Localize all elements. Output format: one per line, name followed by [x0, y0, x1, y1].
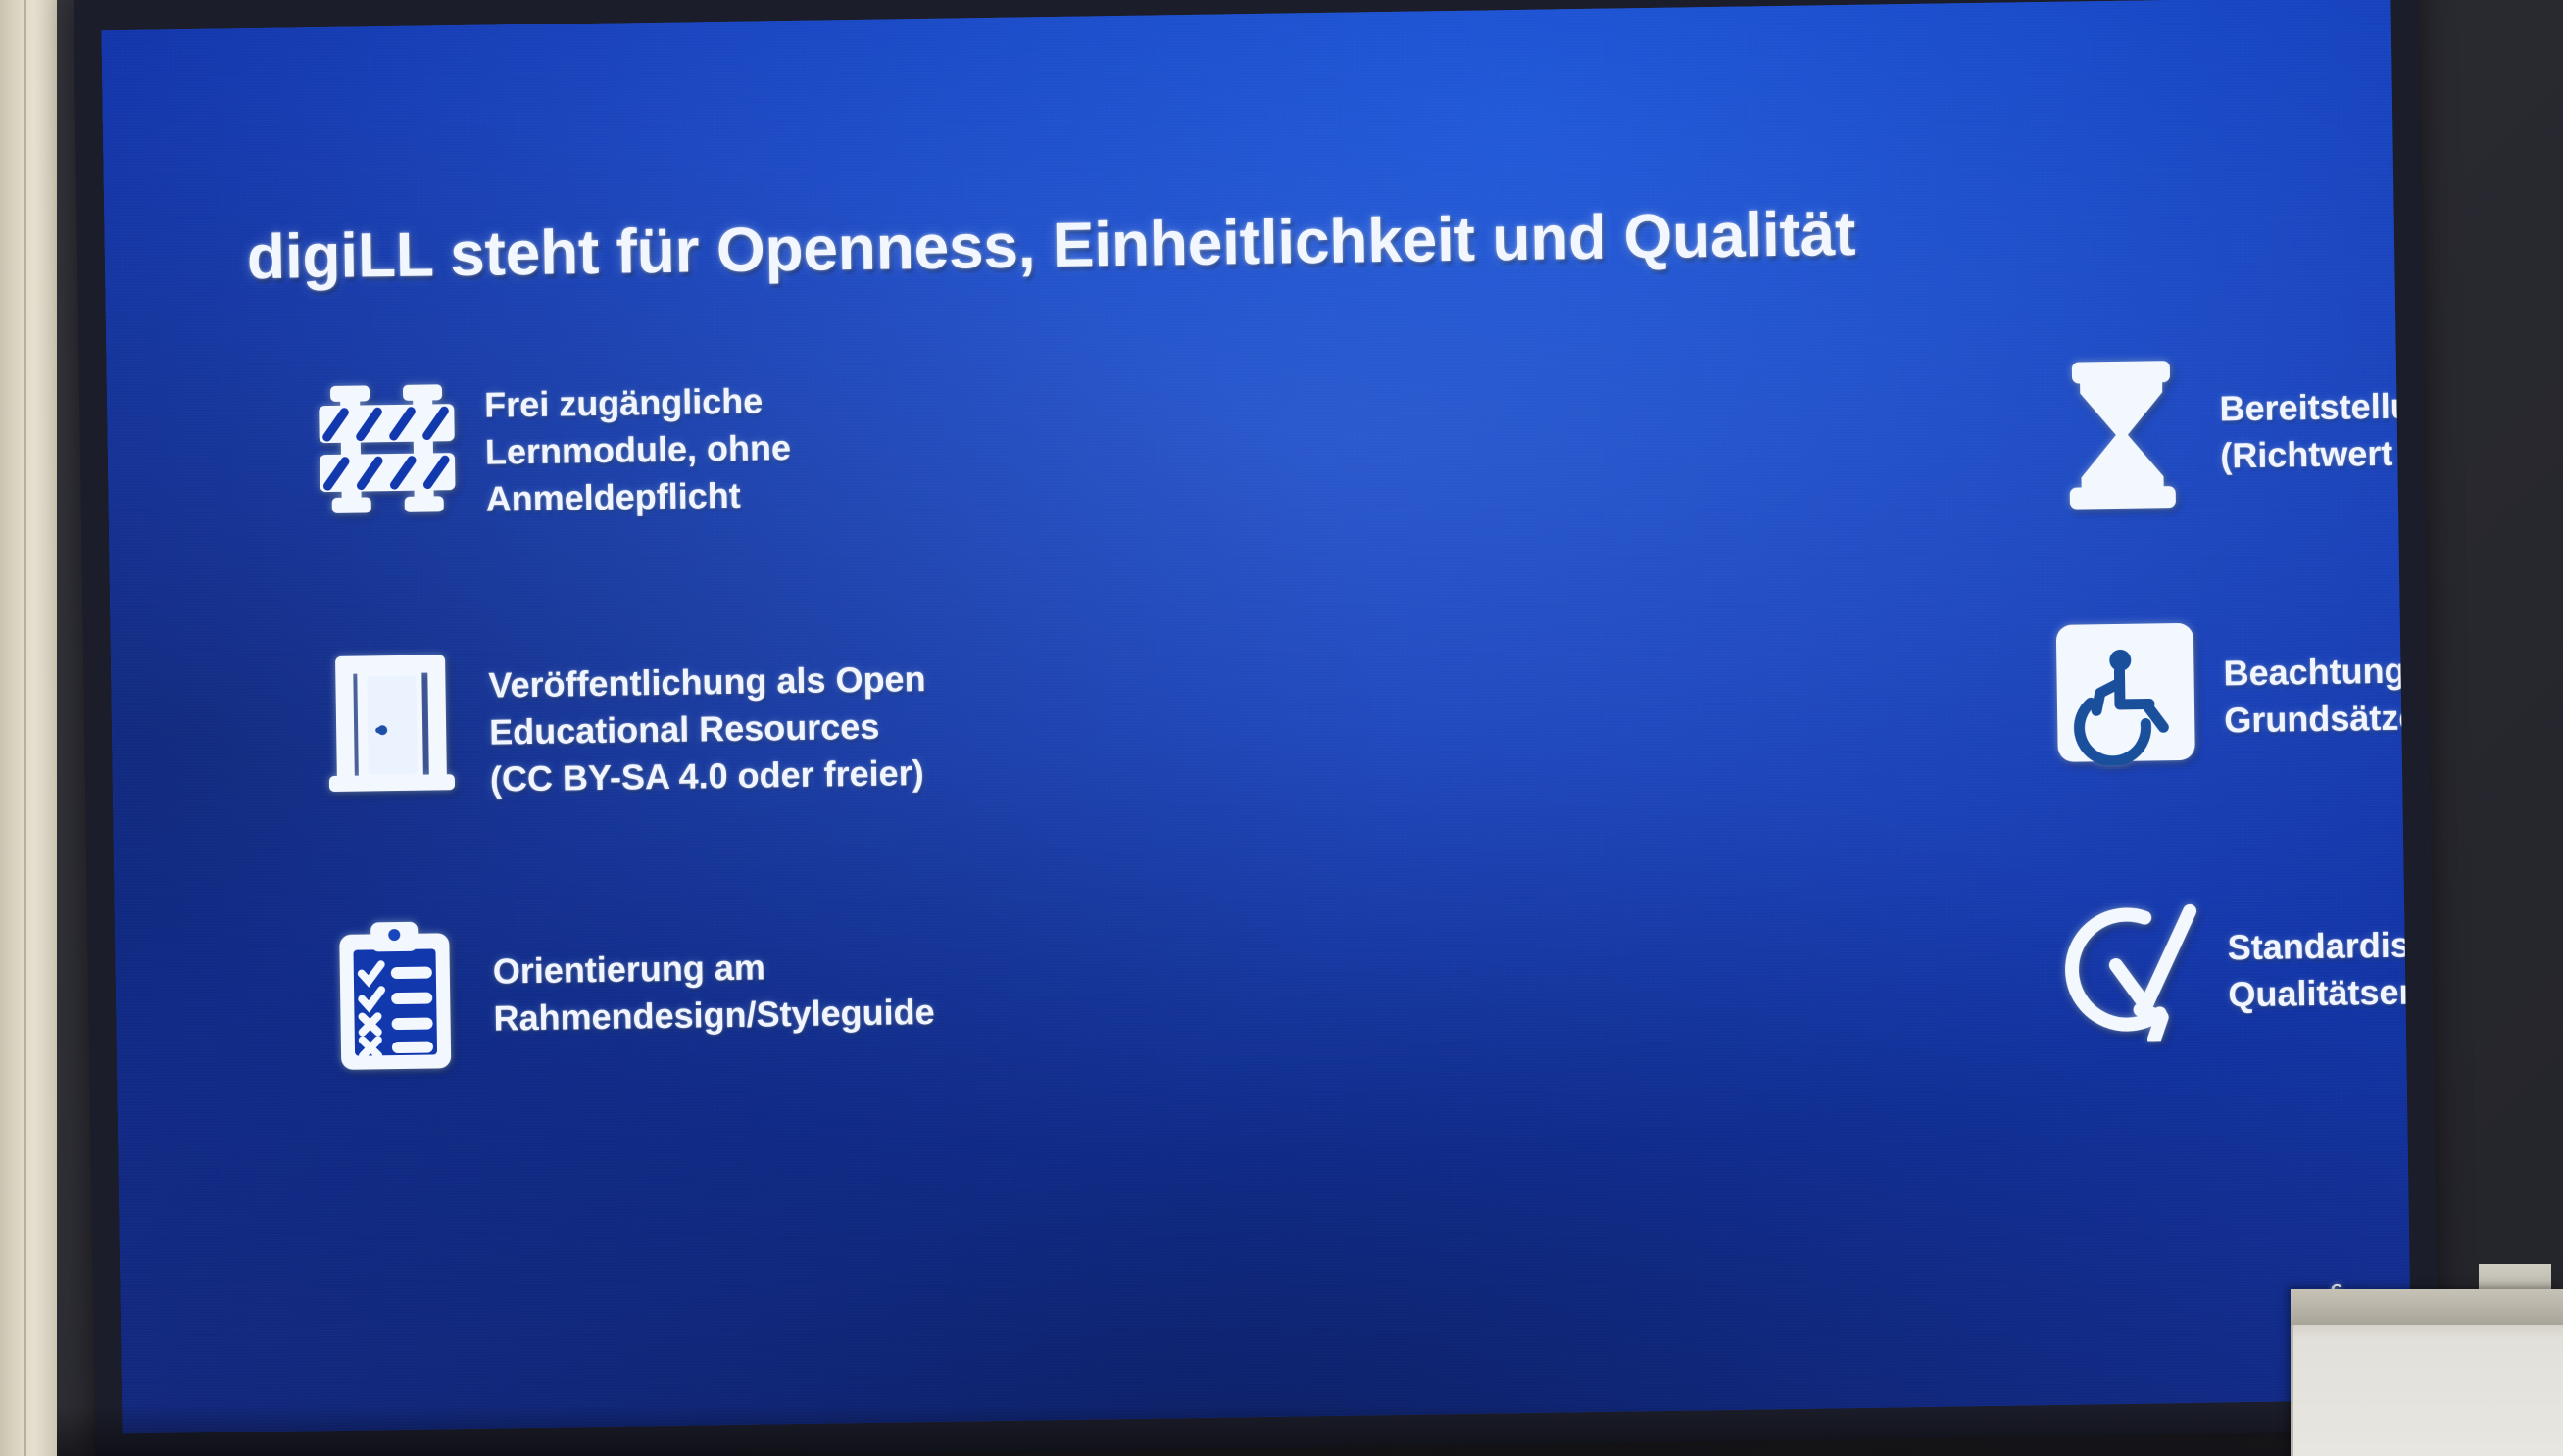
feature-grid: Frei zugängliche Lernmodule, ohne Anmeld…: [107, 350, 2408, 1172]
feature-text-line: Grundsätze: [2224, 691, 2412, 744]
feature-text: Orientierung am Rahmendesign/Styleguide: [492, 897, 935, 1042]
feature-text-line: (CC BY-SA 4.0 oder freier): [490, 750, 928, 802]
feature-text-line: Veröffentlichung als Open: [488, 655, 926, 708]
cycle-check-icon: [2031, 877, 2229, 1043]
flipchart-board: [2279, 1264, 2563, 1456]
slide-title: digiLL steht für Openness, Einheitlichke…: [246, 193, 2266, 292]
feature-text-line: Educational Resources: [489, 703, 927, 755]
feature-column-left: Frei zugängliche Lernmodule, ohne Anmeld…: [107, 371, 937, 1171]
presentation-slide: digiLL steht für Openness, Einheitlichke…: [102, 0, 2412, 1433]
feature-text: Standardisierter, dreistufiger Qualitäts…: [2227, 870, 2412, 1018]
open-door-icon: [292, 641, 490, 795]
feature-item: Veröffentlichung als Open Educational Re…: [292, 634, 933, 906]
feature-text-line: Beachtung barrierefreier: [2223, 644, 2411, 697]
feature-text-line: Anmeldepflicht: [485, 471, 792, 522]
feature-text: Beachtung barrierefreier Grundsätze: [2223, 608, 2412, 744]
feature-item: Standardisierter, dreistufiger Qualitäts…: [2031, 870, 2412, 1143]
photographed-presentation-scene: digiLL steht für Openness, Einheitlichke…: [0, 0, 2563, 1456]
slide-content: digiLL steht für Openness, Einheitlichke…: [102, 0, 2412, 1433]
feature-text-line: Rahmendesign/Styleguide: [493, 989, 935, 1043]
room-wall-strip: [0, 0, 57, 1456]
feature-text-line: Lernmodule, ohne: [485, 424, 792, 475]
feature-text: Frei zugängliche Lernmodule, ohne Anmeld…: [484, 373, 792, 522]
clipboard-checklist-icon: [296, 903, 495, 1075]
feature-text: Veröffentlichung als Open Educational Re…: [488, 634, 927, 802]
projection-screen-bezel: digiLL steht für Openness, Einheitlichke…: [74, 0, 2440, 1456]
wheelchair-accessibility-icon: [2027, 614, 2225, 766]
feature-item: Frei zugängliche Lernmodule, ohne Anmeld…: [288, 371, 929, 644]
barrier-icon: [288, 378, 486, 518]
feature-text-line: Orientierung am: [492, 942, 934, 995]
feature-text-line: (Richtwert 45 Minuten): [2220, 425, 2412, 479]
hourglass-icon: [2023, 352, 2221, 513]
feature-item: Beachtung barrierefreier Grundsätze: [2027, 607, 2412, 881]
feature-column-right: Bereitstellung kurzer Module (Richtwert …: [925, 345, 2412, 1159]
feature-item: Orientierung am Rahmendesign/Styleguide: [296, 897, 937, 1169]
feature-text: Bereitstellung kurzer Module (Richtwert …: [2219, 345, 2412, 479]
feature-text-line: Standardisierter, dreistufiger: [2227, 917, 2411, 972]
floor-shadow: [57, 1405, 2563, 1456]
flipchart-rail: [2291, 1289, 2563, 1325]
feature-text-line: Bereitstellung kurzer Module: [2219, 378, 2411, 432]
feature-text-line: Qualitätsentwicklungsprozess: [2228, 964, 2411, 1019]
feature-item: Bereitstellung kurzer Module (Richtwert …: [2023, 345, 2412, 618]
feature-text-line: Frei zugängliche: [484, 377, 791, 428]
